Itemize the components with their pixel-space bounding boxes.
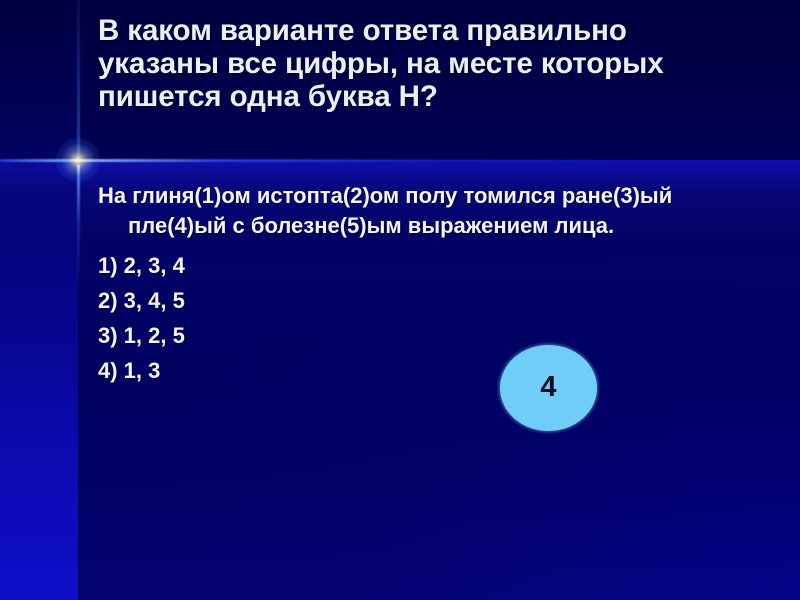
answer-option-1[interactable]: 1) 2, 3, 4 [98,248,718,283]
answer-option-3[interactable]: 3) 1, 2, 5 [98,318,718,353]
presentation-slide: В каком варианте ответа правильно указан… [0,0,800,600]
answer-options-list: 1) 2, 3, 4 2) 3, 4, 5 3) 1, 2, 5 4) 1, 3 [98,248,718,388]
correct-answer-value: 4 [540,373,556,404]
slide-body: На глиня(1)ом истопта(2)ом полу томился … [98,181,718,388]
answer-option-2[interactable]: 2) 3, 4, 5 [98,283,718,318]
correct-answer-bubble: 4 [500,345,597,431]
answer-option-4[interactable]: 4) 1, 3 [98,353,718,388]
star-horizontal-ray-icon [0,159,760,162]
slide-background-left-band [0,0,78,600]
question-passage: На глиня(1)ом истопта(2)ом полу томился … [98,181,718,241]
star-core-icon [56,138,100,182]
slide-title: В каком варианте ответа правильно указан… [98,14,738,113]
